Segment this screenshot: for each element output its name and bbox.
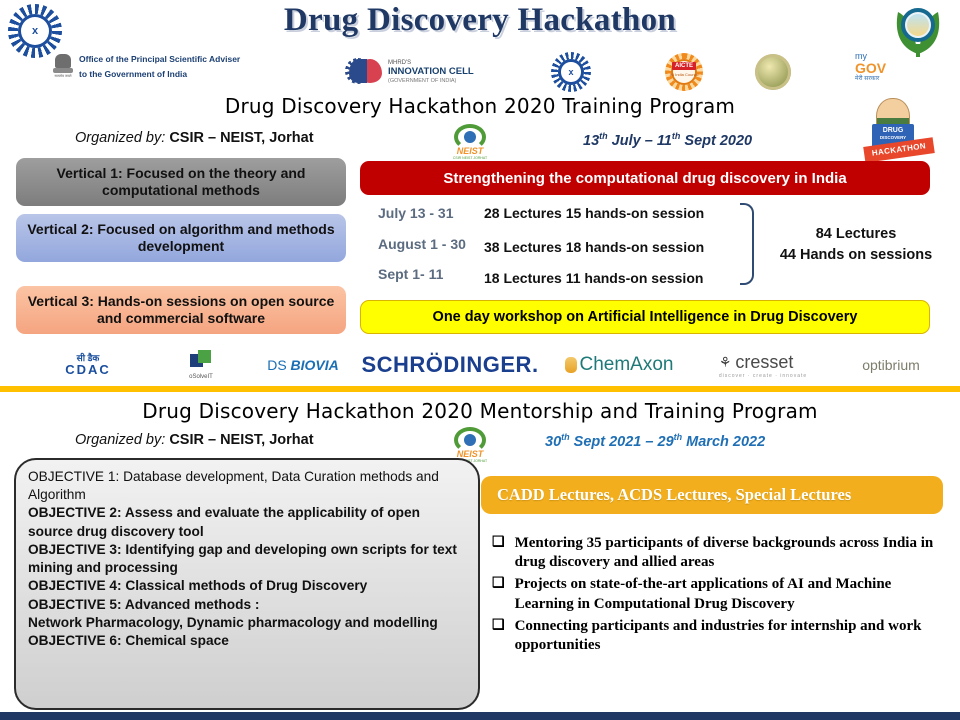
- yellow-banner: One day workshop on Artificial Intellige…: [360, 300, 930, 334]
- checkbox-bullet-icon: ❑: [492, 534, 505, 572]
- schedule-date-0: July 13 - 31: [378, 205, 454, 221]
- organized-label-top: Organized by:: [75, 130, 165, 146]
- biovia-text: BIOVIA: [291, 357, 339, 373]
- csir-gear-logo: x: [551, 52, 591, 92]
- osolveit-text: oSolveIT: [189, 374, 213, 380]
- schrodinger-text: SCHRÖDINGER.: [361, 352, 538, 378]
- mhrd-innovation-cell-logo: MHRD'S INNOVATION CELL (GOVERNMENT OF IN…: [345, 55, 474, 89]
- laurel-emblem-logo: [888, 2, 948, 58]
- mhrd-line2: INNOVATION CELL: [388, 67, 474, 78]
- aicte-logo: AICTE All India Council: [665, 53, 703, 91]
- organized-label-bottom: Organized by:: [75, 432, 165, 448]
- date-top-d1: 13: [583, 133, 599, 149]
- cresset-text: cresset: [735, 352, 793, 373]
- vertical-3-label: Vertical 3: Hands-on sessions on open so…: [26, 293, 336, 327]
- amber-banner-label: CADD Lectures, ACDS Lectures, Special Le…: [497, 485, 851, 505]
- optibrium-text: optibrium: [862, 357, 920, 373]
- vertical-1-label: Vertical 1: Focused on the theory and co…: [26, 165, 336, 199]
- organized-by-bottom: Organized by: CSIR – NEIST, Jorhat: [75, 432, 314, 448]
- objective-item: OBJECTIVE 4: Classical methods of Drug D…: [28, 577, 468, 595]
- objective-4-text: Classical methods of Drug Discovery: [122, 578, 368, 593]
- objective-item: OBJECTIVE 6: Chemical space: [28, 632, 468, 650]
- aicte-tag: AICTE: [672, 62, 696, 70]
- bullet-text-1: Projects on state-of-the-art application…: [515, 575, 948, 613]
- training-program-title: Drug Discovery Hackathon 2020 Training P…: [0, 94, 960, 118]
- objective-5-text: Advanced methods :: [122, 597, 260, 612]
- chemaxon-mark-icon: [565, 357, 577, 373]
- objective-4-id: OBJECTIVE 4:: [28, 578, 122, 593]
- chemaxon-logo: ChemAxon: [556, 350, 682, 380]
- cresset-tagline: discover · create · innovate: [719, 373, 807, 379]
- yellow-banner-label: One day workshop on Artificial Intellige…: [433, 309, 858, 325]
- vertical-2-card[interactable]: Vertical 2: Focused on algorithm and met…: [16, 214, 346, 262]
- schedule-desc-0: 28 Lectures 15 hands-on session: [484, 205, 704, 221]
- objective-6-text: Chemical space: [122, 633, 229, 648]
- emblem-inner: [907, 14, 929, 36]
- organized-value-top: CSIR – NEIST, Jorhat: [169, 130, 313, 146]
- objective-2-id: OBJECTIVE 2:: [28, 505, 122, 520]
- bullet-text-0: Mentoring 35 participants of diverse bac…: [515, 534, 948, 572]
- red-banner: Strengthening the computational drug dis…: [360, 161, 930, 195]
- schrodinger-logo: SCHRÖDINGER.: [370, 350, 530, 380]
- list-item: ❑ Mentoring 35 participants of diverse b…: [492, 534, 948, 572]
- schedule-totals: 84 Lectures 44 Hands on sessions: [758, 224, 954, 266]
- poster-root: Drug Discovery Hackathon x सत्यमेव जयते …: [0, 0, 960, 720]
- list-item: ❑ Connecting participants and industries…: [492, 617, 948, 655]
- divider-yellow: [0, 386, 960, 392]
- date-bot-s2: th: [674, 432, 683, 442]
- ds-biovia-logo: DS BIOVIA: [255, 352, 351, 378]
- brain-gear-icon: [345, 55, 383, 89]
- objective-item: OBJECTIVE 1: Database development, Data …: [28, 468, 468, 504]
- date-top-tail: Sept 2020: [680, 133, 752, 149]
- aicte-sub: All India Council: [670, 72, 699, 77]
- total-lectures: 84 Lectures: [758, 224, 954, 245]
- checkbox-bullet-icon: ❑: [492, 575, 505, 613]
- bullet-text-2: Connecting participants and industries f…: [515, 617, 948, 655]
- amber-banner: CADD Lectures, ACDS Lectures, Special Le…: [481, 476, 943, 514]
- cresset-mark-icon: ⚘: [719, 354, 732, 371]
- mentorship-program-title: Drug Discovery Hackathon 2020 Mentorship…: [0, 399, 960, 423]
- schedule-brace: [740, 203, 754, 285]
- objective-item: OBJECTIVE 3: Identifying gap and develop…: [28, 541, 468, 577]
- objective-item: Network Pharmacology, Dynamic pharmacolo…: [28, 614, 468, 632]
- vertical-3-card[interactable]: Vertical 3: Hands-on sessions on open so…: [16, 286, 346, 334]
- date-bot-d1: 30: [545, 434, 561, 450]
- date-bot-mid: Sept 2021 –: [570, 434, 658, 450]
- organized-by-top: Organized by: CSIR – NEIST, Jorhat: [75, 130, 314, 146]
- red-banner-label: Strengthening the computational drug dis…: [443, 170, 846, 187]
- objective-5b-text: Network Pharmacology, Dynamic pharmacolo…: [28, 615, 438, 630]
- mhrd-line3: (GOVERNMENT OF INDIA): [388, 78, 474, 84]
- neist-logo-top: NEISTCSIR NEIST JORHAT: [452, 124, 488, 164]
- mygov-logo: my GOV मेरी सरकार: [855, 52, 886, 82]
- date-top-d2: 11: [657, 133, 672, 149]
- mygov-hindi: मेरी सरकार: [855, 76, 886, 82]
- objective-item: OBJECTIVE 5: Advanced methods :: [28, 596, 468, 614]
- checkbox-bullet-icon: ❑: [492, 617, 505, 655]
- dates-top: 13th July – 11th Sept 2020: [583, 131, 752, 149]
- date-bot-tail: March 2022: [682, 434, 765, 450]
- objective-item: OBJECTIVE 2: Assess and evaluate the app…: [28, 504, 468, 540]
- osolveit-mark-icon: [190, 350, 212, 368]
- gold-seal-logo: [755, 54, 791, 90]
- objectives-box: OBJECTIVE 1: Database development, Data …: [14, 458, 480, 710]
- vertical-1-card[interactable]: Vertical 1: Focused on the theory and co…: [16, 158, 346, 206]
- schedule-desc-1: 38 Lectures 18 hands-on session: [484, 239, 704, 255]
- objective-3-id: OBJECTIVE 3:: [28, 542, 122, 557]
- date-top-mid: July –: [608, 133, 657, 149]
- psa-line1: Office of the Principal Scientific Advis…: [79, 55, 240, 65]
- total-hands-on: 44 Hands on sessions: [758, 245, 954, 266]
- schedule-desc-2: 18 Lectures 11 hands-on session: [484, 270, 703, 286]
- schedule-date-2: Sept 1- 11: [378, 266, 443, 282]
- csir-logo: x: [8, 4, 62, 58]
- psa-line2: to the Government of India: [79, 70, 240, 80]
- objective-5-id: OBJECTIVE 5:: [28, 597, 122, 612]
- psa-logo: सत्यमेव जयते Office of the Principal Sci…: [52, 52, 240, 82]
- osolveit-logo: oSolveIT: [168, 348, 234, 382]
- cdac-text: CDAC: [65, 362, 111, 377]
- mygov-gov: GOV: [855, 61, 886, 76]
- objective-6-id: OBJECTIVE 6:: [28, 633, 122, 648]
- biovia-prefix: DS: [267, 357, 286, 373]
- optibrium-logo: optibrium: [836, 352, 946, 378]
- schedule-date-1: August 1 - 30: [378, 236, 466, 252]
- cresset-logo: ⚘ cresset discover · create · innovate: [708, 350, 818, 380]
- page-title: Drug Discovery Hackathon: [0, 2, 960, 39]
- divider-bottom-blue: [0, 712, 960, 720]
- date-bot-s1: th: [561, 432, 570, 442]
- vertical-2-label: Vertical 2: Focused on algorithm and met…: [26, 221, 336, 255]
- date-top-s1: th: [599, 131, 608, 141]
- date-bot-d2: 29: [658, 434, 674, 450]
- chemaxon-text: ChemAxon: [580, 354, 674, 376]
- mentorship-bullet-list: ❑ Mentoring 35 participants of diverse b…: [492, 534, 948, 658]
- dates-bottom: 30th Sept 2021 – 29th March 2022: [545, 432, 765, 450]
- list-item: ❑ Projects on state-of-the-art applicati…: [492, 575, 948, 613]
- cdac-logo: सी डैक CDAC: [52, 348, 124, 382]
- organized-value-bottom: CSIR – NEIST, Jorhat: [169, 432, 313, 448]
- objective-1-id: OBJECTIVE 1:: [28, 469, 119, 484]
- dna-icon: x: [8, 4, 62, 58]
